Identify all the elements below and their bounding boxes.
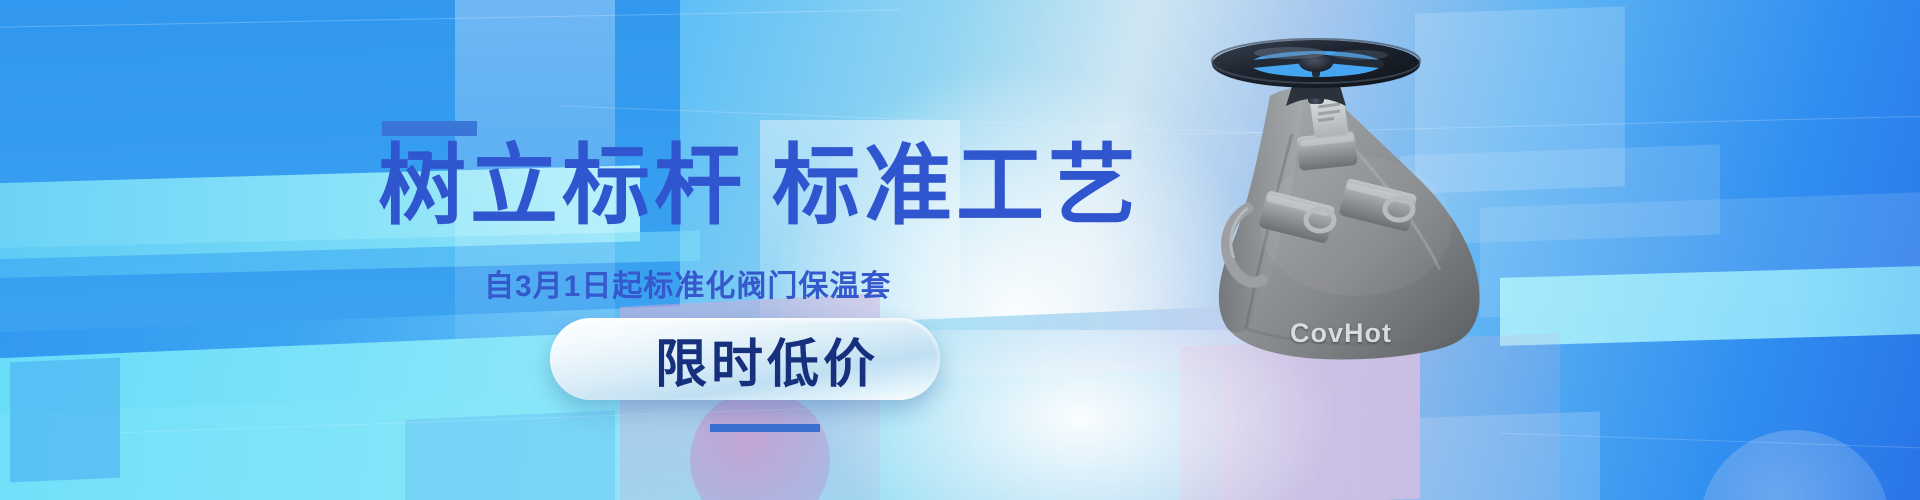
cta-button[interactable]: 限时低价	[550, 318, 940, 400]
product-logo-text: CovHot	[1290, 318, 1392, 349]
product-image	[1120, 30, 1540, 410]
headline: 树立标杆标准工艺	[378, 140, 1140, 232]
promo-banner: 树立标杆标准工艺 自3月1日起标准化阀门保温套 限时低价	[0, 0, 1920, 500]
accent-bar	[382, 121, 477, 136]
cta-button-label: 限时低价	[655, 322, 879, 397]
headline-part-2: 标准工艺	[772, 136, 1140, 235]
valve-handwheel	[1212, 39, 1420, 88]
subtitle: 自3月1日起标准化阀门保温套	[484, 261, 891, 305]
background-hairline-5	[1500, 433, 1920, 449]
underline-bar	[710, 424, 820, 432]
background-panel-right-3	[1480, 192, 1920, 317]
headline-part-1: 树立标杆	[378, 136, 746, 235]
background-ribbon-right	[1500, 266, 1920, 346]
background-panel-right-4	[1400, 412, 1600, 500]
background-blue-circle	[1700, 430, 1890, 500]
banner-copy: 树立标杆标准工艺 自3月1日起标准化阀门保温套 限时低价	[0, 0, 1000, 500]
